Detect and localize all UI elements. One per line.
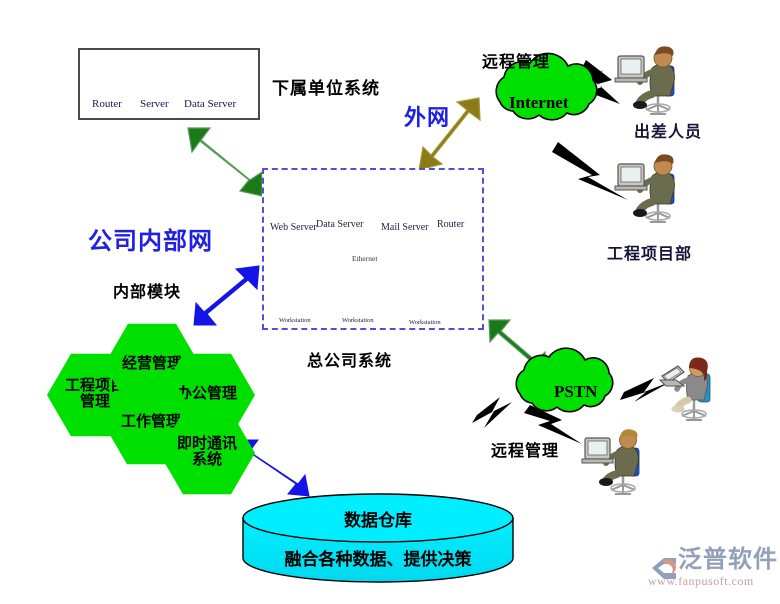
label-remote-management-top: 远程管理: [482, 48, 550, 72]
person-at-laptop-icon-female: [660, 357, 710, 420]
watermark-url: www.fanpusoft.com: [648, 574, 778, 589]
ethernet-bus-label: Ethernet: [352, 254, 377, 263]
label-headquarters-system: 总公司系统: [307, 347, 392, 371]
watermark-brand: 泛普软件: [678, 548, 778, 572]
subsidiary-device-label-server: Server: [140, 98, 169, 110]
module-label-line1: 工作管理: [121, 415, 181, 431]
module-label-line1: 办公管理: [177, 387, 237, 403]
pstn-cloud-label: PSTN: [554, 382, 597, 402]
data-warehouse-subtitle: 融合各种数据、提供决策: [243, 545, 513, 570]
hq-server-label-data: Data Server: [316, 219, 363, 230]
label-subsidiary-system: 下属单位系统: [272, 74, 380, 99]
person-at-computer-icon-3: [582, 429, 639, 494]
hq-workstation-label-2: Workstation: [342, 317, 374, 324]
subsidiary-device-label-data-server: Data Server: [184, 98, 236, 110]
person-at-computer-icon-2: [615, 154, 675, 222]
label-external-network: 外网: [404, 100, 450, 132]
headquarters-system-box: [262, 168, 484, 330]
label-remote-management-bottom: 远程管理: [491, 437, 559, 461]
hq-server-label-mail: Mail Server: [381, 222, 429, 233]
label-internal-network: 公司内部网: [88, 221, 213, 256]
data-warehouse: 数据仓库 融合各种数据、提供决策: [243, 500, 513, 582]
arrow-modules-to-hq: [194, 266, 259, 325]
label-internal-modules: 内部模块: [113, 278, 181, 302]
watermark: 泛普软件 www.fanpusoft.com: [648, 548, 778, 589]
internet-cloud-label: Internet: [509, 93, 568, 113]
hq-workstation-label-3: Workstation: [409, 319, 441, 326]
hq-server-label-router: Router: [437, 219, 464, 230]
module-label-line1: 经营管理: [122, 357, 182, 373]
data-warehouse-title: 数据仓库: [243, 506, 513, 531]
arrow-subsidiary-to-hq: [188, 128, 262, 196]
label-project-department: 工程项目部: [607, 240, 692, 264]
module-label-line2: 系统: [177, 453, 237, 469]
label-traveling-staff: 出差人员: [634, 118, 702, 142]
lightning-hq-to-pstn-left: [472, 397, 512, 428]
lightning-internet-to-staff2: [552, 142, 628, 200]
subsidiary-device-label-router: Router: [92, 98, 122, 110]
person-at-computer-icon-1: [615, 46, 675, 114]
module-label-line1: 即时通讯: [177, 437, 237, 453]
hq-workstation-label-1: Workstation: [279, 317, 311, 324]
hq-server-label-web: Web Server: [270, 222, 317, 233]
